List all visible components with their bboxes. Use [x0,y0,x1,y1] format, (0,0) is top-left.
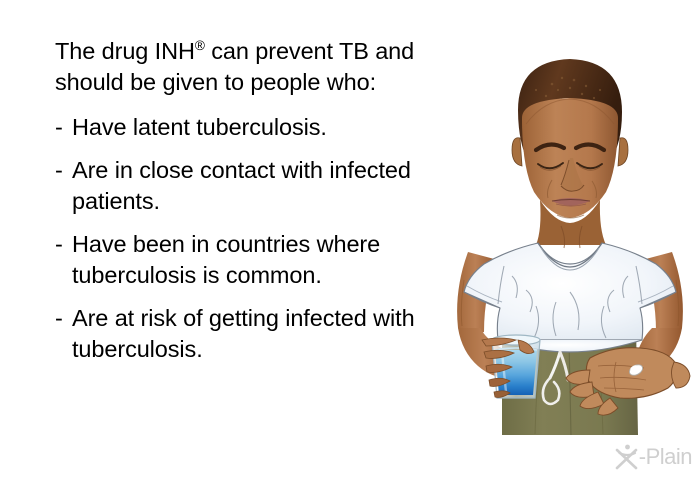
bullet-marker-icon: - [55,229,63,260]
indication-list: - Have latent tuberculosis. - Are in clo… [55,112,425,365]
list-item-label: Have been in countries where tuberculosi… [72,231,380,288]
x-plain-logo: -Plain [614,442,692,472]
page-title: The drug INH® can prevent TB and should … [55,36,425,98]
x-plain-figure-icon [614,443,640,471]
bullet-marker-icon: - [55,112,63,143]
list-item: - Are in close contact with infected pat… [55,155,425,217]
list-item-label: Are in close contact with infected patie… [72,157,411,214]
bullet-marker-icon: - [55,303,63,334]
bullet-marker-icon: - [55,155,63,186]
slide-root: The drug INH® can prevent TB and should … [0,0,700,480]
list-item-label: Have latent tuberculosis. [72,114,327,140]
tshirt [464,243,676,352]
list-item-label: Are at risk of getting infected with tub… [72,305,415,362]
illustration-man-taking-pill [440,40,700,440]
hand-holding-glass [458,328,540,398]
registered-trademark-icon: ® [195,38,205,53]
headline-text-before-mark: The drug INH [55,38,195,64]
list-item: - Have been in countries where tuberculo… [55,229,425,291]
text-column: The drug INH® can prevent TB and should … [55,36,425,365]
list-item: - Are at risk of getting infected with t… [55,303,425,365]
list-item: - Have latent tuberculosis. [55,112,425,143]
face [522,98,618,218]
logo-text: -Plain [639,446,692,468]
